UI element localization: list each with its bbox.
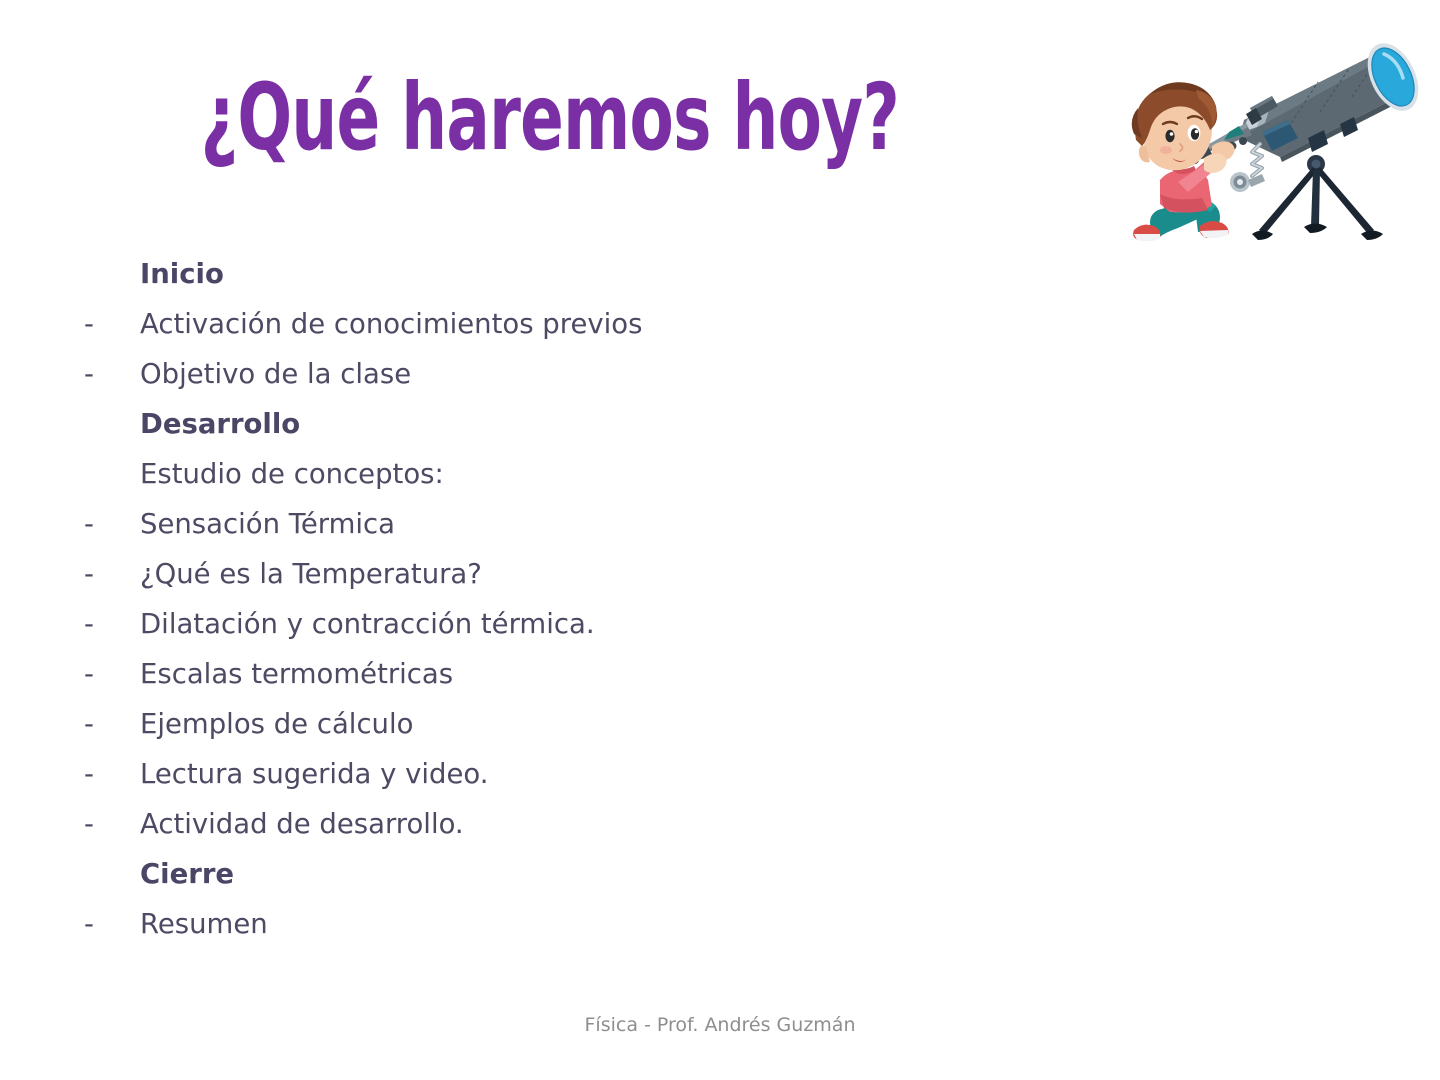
boy-with-telescope-illustration — [1112, 34, 1422, 249]
outline-heading-cierre: Cierre — [84, 858, 1084, 908]
page-title-container: ¿Qué haremos hoy? — [0, 72, 1100, 164]
list-item: - Resumen — [84, 908, 1084, 958]
list-item-label: Sensación Térmica — [140, 508, 395, 540]
bullet-dash: - — [84, 308, 140, 340]
bullet-dash: - — [84, 658, 140, 690]
telescope-tripod-icon — [1252, 155, 1383, 240]
slide-footer: Física - Prof. Andrés Guzmán — [0, 1014, 1440, 1036]
list-item-label: Actividad de desarrollo. — [140, 808, 464, 840]
outline-subtitle-label: Estudio de conceptos: — [140, 458, 444, 490]
list-item-label: ¿Qué es la Temperatura? — [140, 558, 482, 590]
list-item: - Sensación Térmica — [84, 508, 1084, 558]
list-item-label: Ejemplos de cálculo — [140, 708, 413, 740]
list-item-label: Resumen — [140, 908, 268, 940]
list-item: - Dilatación y contracción térmica. — [84, 608, 1084, 658]
list-item-label: Objetivo de la clase — [140, 358, 411, 390]
outline-heading-label: Cierre — [140, 858, 234, 890]
bullet-dash: - — [84, 358, 140, 390]
boy-figure-icon — [1132, 82, 1235, 241]
bullet-dash: - — [84, 808, 140, 840]
outline-heading-label: Desarrollo — [140, 408, 300, 440]
list-item: - Lectura sugerida y video. — [84, 758, 1084, 808]
list-item: - ¿Qué es la Temperatura? — [84, 558, 1084, 608]
list-item-label: Escalas termométricas — [140, 658, 453, 690]
bullet-dash: - — [84, 708, 140, 740]
outline-list: Inicio - Activación de conocimientos pre… — [84, 258, 1084, 958]
list-item: - Objetivo de la clase — [84, 358, 1084, 408]
telescope-illustration-svg — [1112, 34, 1422, 249]
slide-canvas: ¿Qué haremos hoy? — [0, 0, 1440, 1080]
list-item-label: Activación de conocimientos previos — [140, 308, 642, 340]
outline-heading-inicio: Inicio — [84, 258, 1084, 308]
bullet-dash: - — [84, 758, 140, 790]
outline-heading-label: Inicio — [140, 258, 224, 290]
list-item: - Actividad de desarrollo. — [84, 808, 1084, 858]
bullet-dash: - — [84, 608, 140, 640]
page-title: ¿Qué haremos hoy? — [201, 72, 899, 164]
list-item: - Ejemplos de cálculo — [84, 708, 1084, 758]
outline-subtitle-estudio: Estudio de conceptos: — [84, 458, 1084, 508]
bullet-dash: - — [84, 508, 140, 540]
list-item-label: Lectura sugerida y video. — [140, 758, 489, 790]
list-item: - Activación de conocimientos previos — [84, 308, 1084, 358]
bullet-dash: - — [84, 558, 140, 590]
list-item: - Escalas termométricas — [84, 658, 1084, 708]
bullet-dash: - — [84, 908, 140, 940]
outline-heading-desarrollo: Desarrollo — [84, 408, 1084, 458]
list-item-label: Dilatación y contracción térmica. — [140, 608, 595, 640]
